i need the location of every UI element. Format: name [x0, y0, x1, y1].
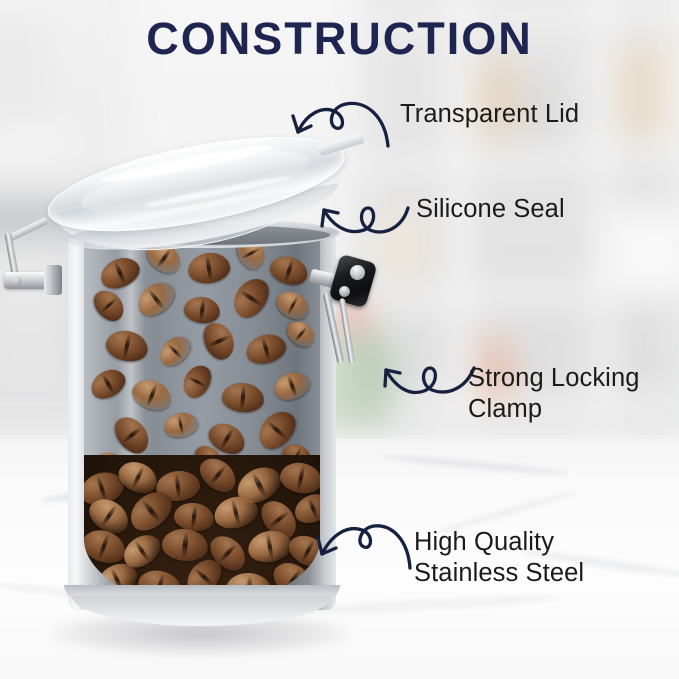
- label-transparent-lid: Transparent Lid: [400, 99, 579, 130]
- label-line: Clamp: [468, 394, 640, 425]
- page-title: CONSTRUCTION: [0, 16, 679, 61]
- label-high-quality-stainless-steel: High Quality Stainless Steel: [414, 527, 584, 589]
- wire-bail-hinge: [4, 232, 80, 304]
- label-silicone-seal: Silicone Seal: [416, 194, 565, 225]
- label-line: Strong Locking: [468, 363, 640, 394]
- locking-clamp: [320, 258, 390, 378]
- arrow-silicone-seal: [308, 186, 414, 242]
- canister-window: [84, 235, 320, 605]
- arrow-strong-locking-clamp: [382, 348, 478, 404]
- label-strong-locking-clamp: Strong Locking Clamp: [468, 363, 640, 425]
- label-line: High Quality: [414, 527, 584, 558]
- arrow-transparent-lid: [284, 92, 394, 154]
- infographic-canvas: CONSTRUCTION: [0, 0, 679, 679]
- label-line: Silicone Seal: [416, 194, 565, 225]
- label-line: Transparent Lid: [400, 99, 579, 130]
- label-line: Stainless Steel: [414, 558, 584, 589]
- coffee-bean-pile: [84, 455, 320, 605]
- arrow-high-quality-stainless-steel: [312, 512, 416, 574]
